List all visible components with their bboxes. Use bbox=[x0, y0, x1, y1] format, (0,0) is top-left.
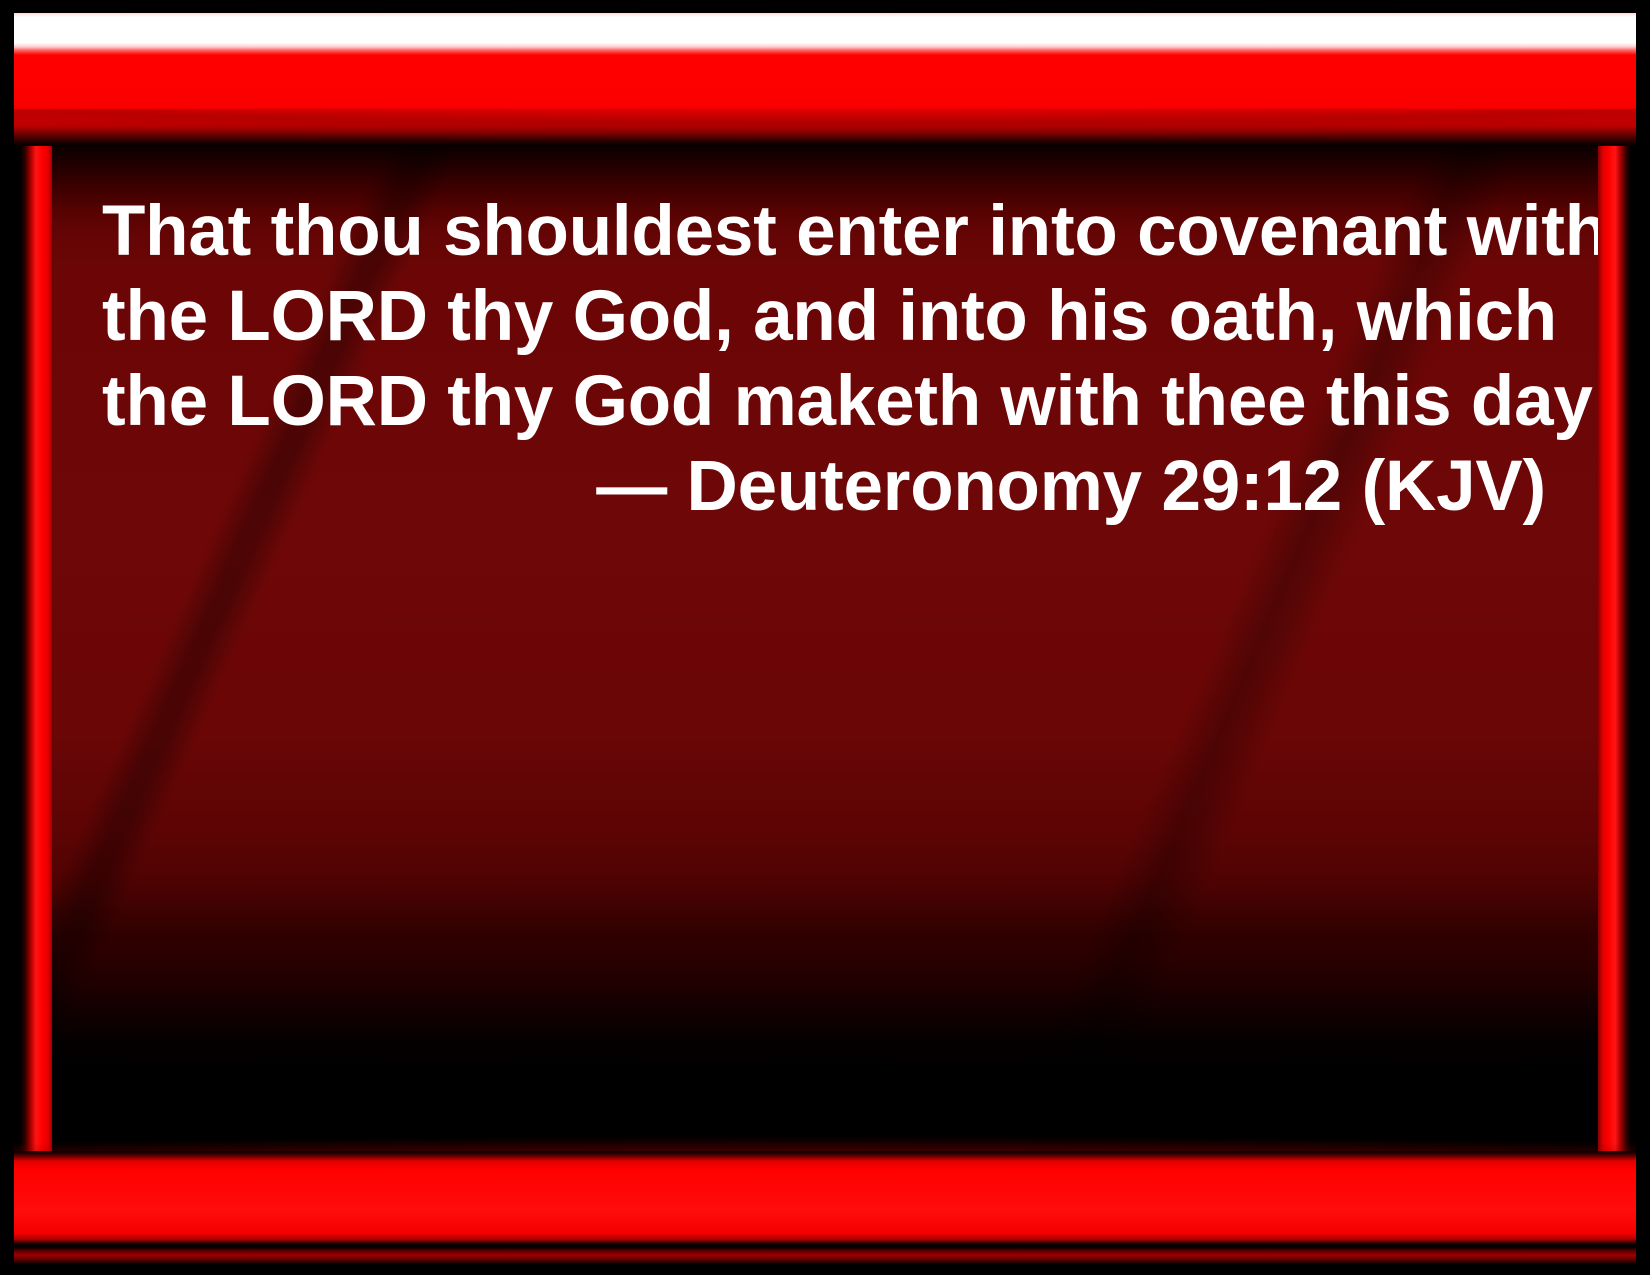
glossy-red-frame: That thou shouldest enter into covenant … bbox=[14, 13, 1636, 1263]
scripture-slide: That thou shouldest enter into covenant … bbox=[0, 0, 1650, 1275]
verse-line-2: the LORD thy God, and into his oath, whi… bbox=[102, 274, 1552, 359]
verse-reference: — Deuteronomy 29:12 (KJV) bbox=[102, 444, 1552, 529]
verse-line-3: the LORD thy God maketh with thee this d… bbox=[102, 359, 1552, 444]
verse-line-1: That thou shouldest enter into covenant … bbox=[102, 189, 1552, 274]
frame-bar-bottom bbox=[14, 1151, 1636, 1263]
frame-bar-top bbox=[14, 13, 1636, 146]
background-sheen bbox=[52, 871, 1598, 991]
content-plate: That thou shouldest enter into covenant … bbox=[52, 131, 1598, 1165]
verse-text-block: That thou shouldest enter into covenant … bbox=[102, 189, 1552, 529]
